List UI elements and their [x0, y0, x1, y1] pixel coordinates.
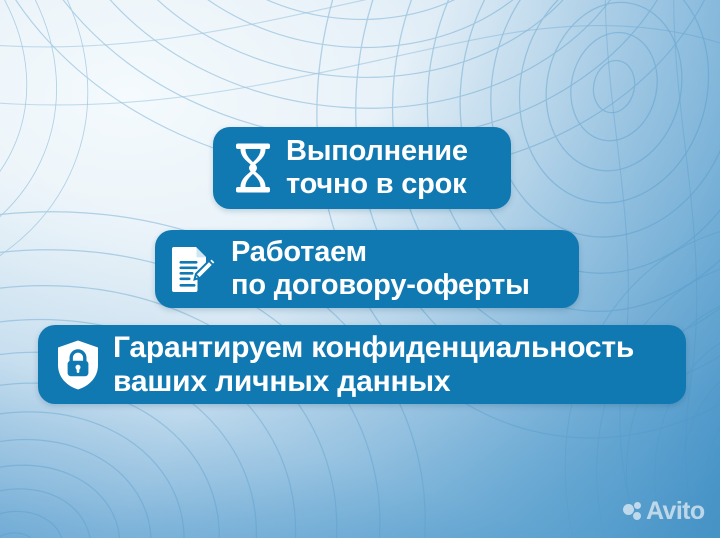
- badge-privacy: Гарантируем конфиденциальность ваших лич…: [38, 325, 686, 404]
- badge-contract: Работаем по договору-оферты: [155, 230, 579, 308]
- hourglass-icon: [231, 140, 275, 196]
- badge-deadline-text: Выполнение точно в срок: [286, 135, 468, 201]
- shield-lock-icon: [54, 338, 102, 392]
- badge-privacy-text: Гарантируем конфиденциальность ваших лич…: [113, 331, 634, 399]
- badge-deadline: Выполнение точно в срок: [213, 127, 511, 209]
- promo-image: Выполнение точно в срок: [0, 0, 720, 538]
- badge-contract-text: Работаем по договору-оферты: [231, 236, 530, 302]
- document-pen-icon: [169, 242, 219, 296]
